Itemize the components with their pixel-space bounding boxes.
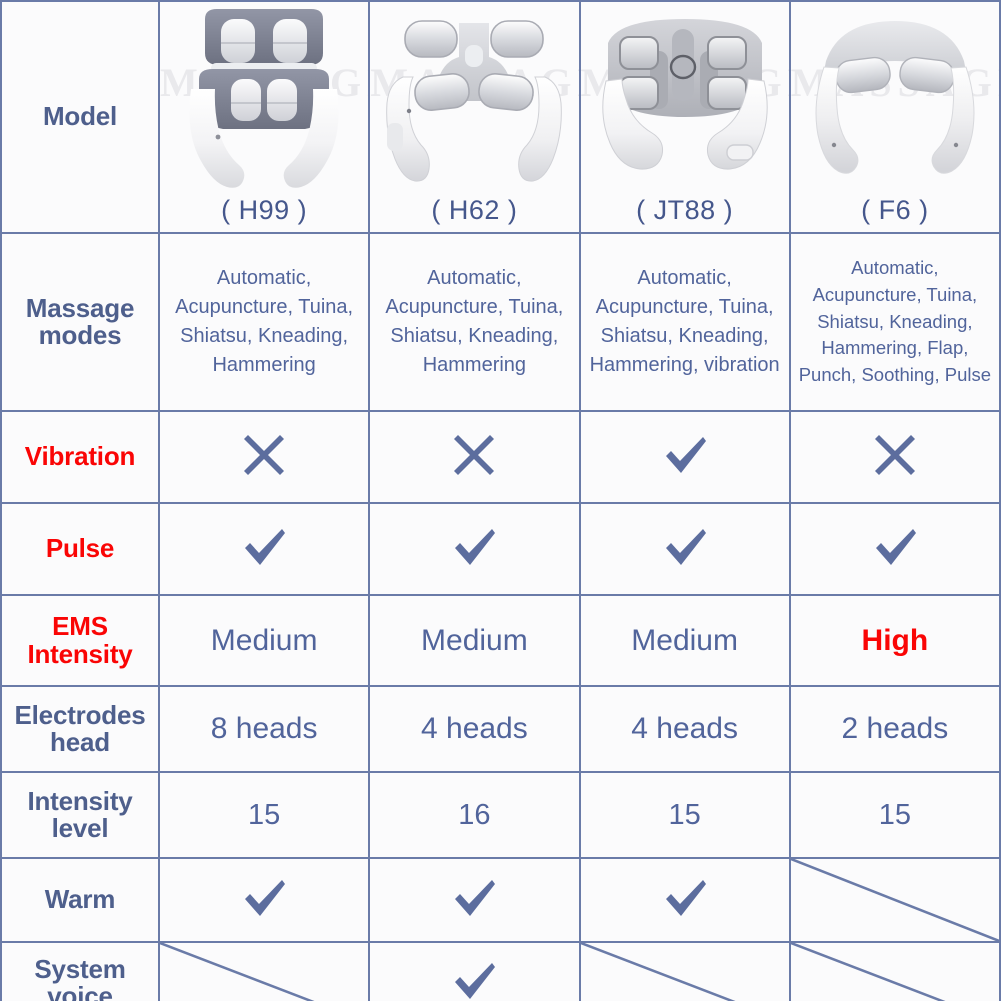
table-row-ems-intensity: EMS Intensity Medium Medium Medium High [1, 595, 1000, 686]
cell-intensity-h62: 16 [369, 772, 579, 858]
massage-modes-value-jt88: Automatic, Acupuncture, Tuina, Shiatsu, … [581, 258, 789, 387]
cell-massage-modes-f6: Automatic, Acupuncture, Tuina, Shiatsu, … [790, 233, 1000, 411]
neck-massager-f6-image [800, 5, 990, 191]
cell-electrodes-h99: 8 heads [159, 686, 369, 772]
cell-pulse-jt88 [580, 503, 790, 595]
row-label-pulse: Pulse [1, 503, 159, 595]
row-label-massage-modes-line1: Massage [26, 293, 134, 323]
intensity-value-h62: 16 [458, 799, 490, 831]
cell-voice-jt88 [580, 942, 790, 1001]
electrodes-value-f6: 2 heads [841, 712, 948, 745]
model-label-h62: ( H62 ) [431, 195, 517, 231]
check-icon [868, 520, 922, 574]
cell-model-h62: MASSAGER [369, 1, 579, 233]
table-row-warm: Warm [1, 858, 1000, 942]
comparison-table-page: Model MASSAGER [0, 0, 1001, 1001]
cell-vibration-h62 [369, 411, 579, 503]
row-label-voice-line2: voice [47, 981, 113, 1001]
check-icon [447, 520, 501, 574]
row-label-electrodes-head: Electrodes head [1, 686, 159, 772]
row-label-model: Model [1, 1, 159, 233]
cell-ems-jt88: Medium [580, 595, 790, 686]
cell-model-jt88: MASSAGER [580, 1, 790, 233]
cell-model-h99: MASSAGER [159, 1, 369, 233]
intensity-value-h99: 15 [248, 799, 280, 831]
ems-value-h62: Medium [421, 624, 528, 657]
cell-warm-h99 [159, 858, 369, 942]
row-label-intensity-line1: Intensity [27, 786, 132, 816]
table-row-pulse: Pulse [1, 503, 1000, 595]
cell-warm-f6 [790, 858, 1000, 942]
row-label-vibration: Vibration [1, 411, 159, 503]
cell-vibration-h99 [159, 411, 369, 503]
cell-electrodes-f6: 2 heads [790, 686, 1000, 772]
neck-massager-h99-image [169, 5, 359, 191]
cross-icon [447, 428, 501, 482]
intensity-value-jt88: 15 [668, 799, 700, 831]
cell-vibration-jt88 [580, 411, 790, 503]
row-label-electrodes-line2: head [50, 727, 110, 757]
cell-ems-h99: Medium [159, 595, 369, 686]
check-icon [237, 520, 291, 574]
table-row-system-voice: System voice [1, 942, 1000, 1001]
row-label-ems-line2: Intensity [27, 639, 132, 669]
check-icon [658, 520, 712, 574]
ems-value-jt88: Medium [631, 624, 738, 657]
row-label-system-voice: System voice [1, 942, 159, 1001]
product-comparison-table: Model MASSAGER [0, 0, 1001, 1001]
cell-warm-h62 [369, 858, 579, 942]
cell-electrodes-jt88: 4 heads [580, 686, 790, 772]
ems-value-h99: Medium [211, 624, 318, 657]
row-label-massage-modes: Massage modes [1, 233, 159, 411]
model-label-h99: ( H99 ) [221, 195, 307, 231]
cell-warm-jt88 [580, 858, 790, 942]
row-label-electrodes-line1: Electrodes [15, 700, 146, 730]
cell-ems-h62: Medium [369, 595, 579, 686]
check-icon [658, 428, 712, 482]
row-label-warm: Warm [1, 858, 159, 942]
cell-voice-h62 [369, 942, 579, 1001]
electrodes-value-h62: 4 heads [421, 712, 528, 745]
cell-intensity-h99: 15 [159, 772, 369, 858]
row-label-intensity-line2: level [52, 813, 109, 843]
cell-vibration-f6 [790, 411, 1000, 503]
model-label-f6: ( F6 ) [861, 195, 929, 231]
check-icon [237, 871, 291, 925]
cell-ems-f6: High [790, 595, 1000, 686]
table-row-massage-modes: Massage modes Automatic, Acupuncture, Tu… [1, 233, 1000, 411]
model-label-jt88: ( JT88 ) [636, 195, 733, 231]
cell-massage-modes-jt88: Automatic, Acupuncture, Tuina, Shiatsu, … [580, 233, 790, 411]
cell-intensity-f6: 15 [790, 772, 1000, 858]
cell-model-f6: MASSAGER [790, 1, 1000, 233]
check-icon [658, 871, 712, 925]
massage-modes-value-h99: Automatic, Acupuncture, Tuina, Shiatsu, … [160, 258, 368, 387]
electrodes-value-h99: 8 heads [211, 712, 318, 745]
cell-voice-h99 [159, 942, 369, 1001]
row-label-ems-line1: EMS [52, 611, 108, 641]
row-label-massage-modes-line2: modes [39, 320, 122, 350]
row-label-voice-line1: System [34, 954, 125, 984]
massage-modes-value-h62: Automatic, Acupuncture, Tuina, Shiatsu, … [370, 258, 578, 387]
neck-massager-h62-image [379, 5, 569, 191]
table-row-electrodes-head: Electrodes head 8 heads 4 heads 4 heads … [1, 686, 1000, 772]
cell-massage-modes-h62: Automatic, Acupuncture, Tuina, Shiatsu, … [369, 233, 579, 411]
cross-icon [237, 428, 291, 482]
massage-modes-value-f6: Automatic, Acupuncture, Tuina, Shiatsu, … [791, 249, 999, 394]
cell-electrodes-h62: 4 heads [369, 686, 579, 772]
row-label-ems-intensity: EMS Intensity [1, 595, 159, 686]
table-row-vibration: Vibration [1, 411, 1000, 503]
cell-pulse-h99 [159, 503, 369, 595]
electrodes-value-jt88: 4 heads [631, 712, 738, 745]
cross-icon [868, 428, 922, 482]
row-label-intensity-level: Intensity level [1, 772, 159, 858]
check-icon [447, 871, 501, 925]
ems-value-f6: High [862, 624, 929, 657]
check-icon [447, 954, 501, 1001]
cell-pulse-f6 [790, 503, 1000, 595]
cell-massage-modes-h99: Automatic, Acupuncture, Tuina, Shiatsu, … [159, 233, 369, 411]
cell-intensity-jt88: 15 [580, 772, 790, 858]
table-row-intensity-level: Intensity level 15 16 15 15 [1, 772, 1000, 858]
neck-massager-jt88-image [590, 5, 780, 191]
table-row-model: Model MASSAGER [1, 1, 1000, 233]
intensity-value-f6: 15 [879, 799, 911, 831]
cell-pulse-h62 [369, 503, 579, 595]
cell-voice-f6 [790, 942, 1000, 1001]
